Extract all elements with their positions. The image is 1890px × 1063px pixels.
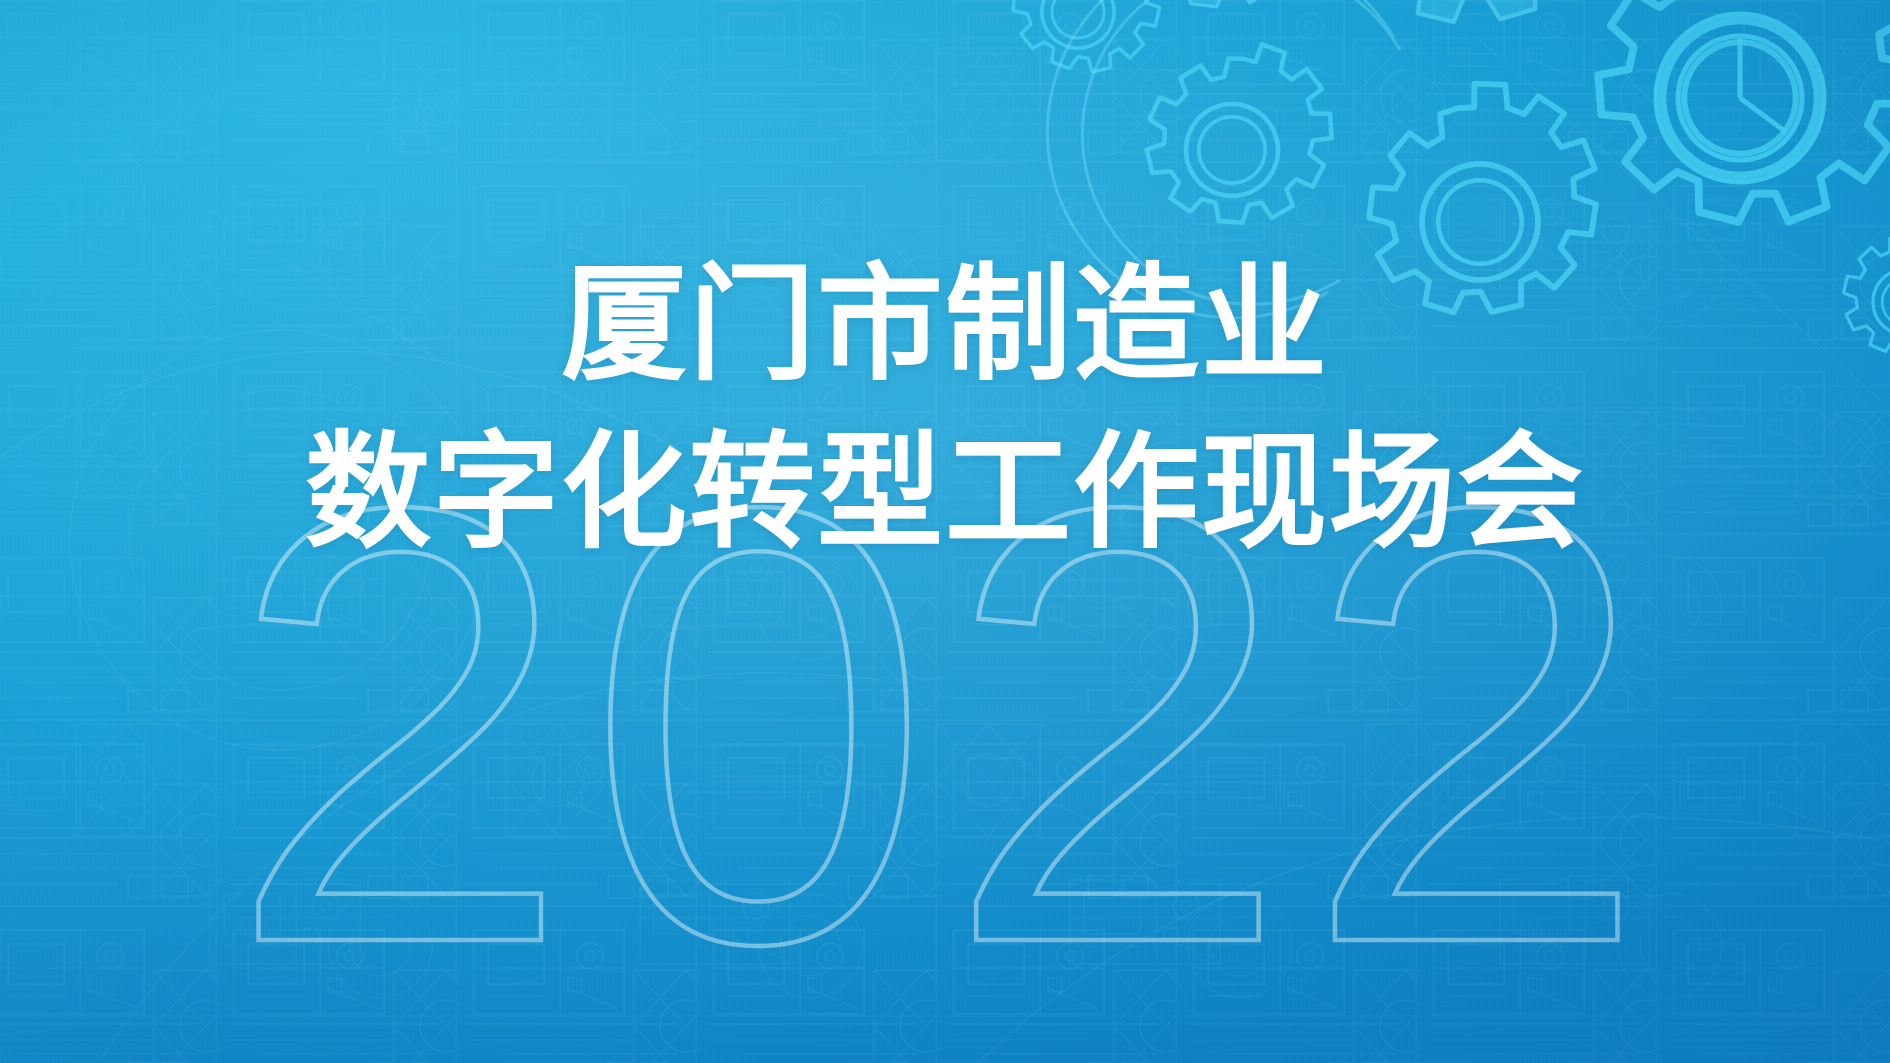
title-slide: 2022 厦门市制造业 数字化转型工作现场会: [0, 0, 1890, 1063]
page-title-line-1: 厦门市制造业: [561, 262, 1329, 388]
page-title-line-2: 数字化转型工作现场会: [305, 430, 1585, 556]
title-block: 厦门市制造业 数字化转型工作现场会: [0, 0, 1890, 1063]
